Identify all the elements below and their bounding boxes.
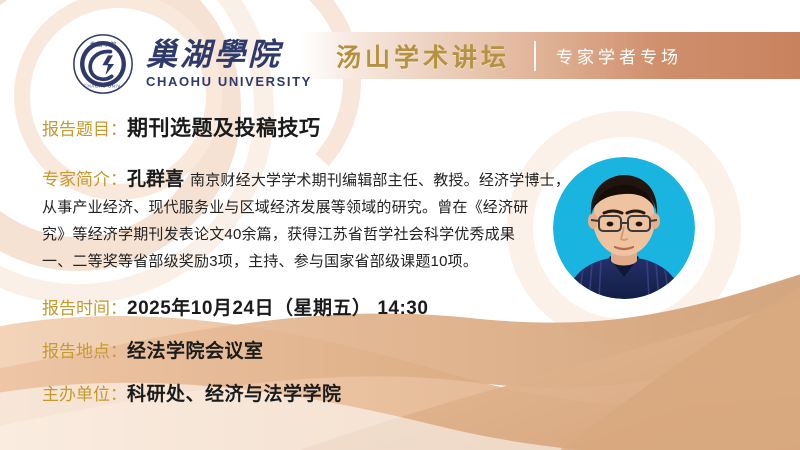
event-banner: 汤山学术讲坛 专家学者专场	[300, 32, 800, 79]
speaker-portrait	[553, 157, 695, 299]
university-name-en: CHAOHU UNIVERSITY	[146, 74, 312, 89]
speaker-bio-label: 专家简介：	[42, 165, 127, 190]
speaker-portrait-image	[553, 157, 695, 299]
svg-text:CHAOHU UNIV.: CHAOHU UNIV.	[84, 84, 123, 89]
report-title-value: 期刊选题及投稿技巧	[127, 112, 321, 142]
organizer-label: 主办单位：	[42, 380, 127, 405]
event-details: 报告时间： 2025年10月24日（星期五） 14:30 报告地点： 经法学院会…	[42, 293, 562, 406]
report-place-row: 报告地点： 经法学院会议室	[42, 336, 562, 363]
report-title-label: 报告题目：	[42, 115, 127, 140]
report-time-row: 报告时间： 2025年10月24日（星期五） 14:30	[42, 293, 562, 320]
poster-content: 报告题目： 期刊选题及投稿技巧 专家简介： 孔群喜 南京财经大学学术期刊编辑部主…	[42, 112, 562, 422]
speaker-bio-block: 专家简介： 孔群喜 南京财经大学学术期刊编辑部主任、教授。经济学博士，主要 从事…	[42, 164, 562, 275]
banner-subtitle: 专家学者专场	[556, 43, 682, 68]
banner-main-title: 汤山学术讲坛	[336, 38, 510, 74]
university-logo: 巢 湖 学 院 CHAOHU UNIV. 巢湖學院 CHAOHU UNIVERS…	[72, 33, 312, 95]
lecture-poster: 汤山学术讲坛 专家学者专场 巢 湖 学 院 CHAOHU UNIV. 巢湖學院 …	[0, 0, 800, 450]
speaker-bio-first-line: 专家简介： 孔群喜 南京财经大学学术期刊编辑部主任、教授。经济学博士，主要	[42, 164, 562, 194]
speaker-bio-line-4: 一、二等奖等省部级奖励3项，主持、参与国家省部级课题10项。	[42, 248, 562, 275]
speaker-bio-line-3: 究》等经济学期刊发表论文40余篇，获得江苏省哲学社会科学优秀成果	[42, 221, 562, 248]
speaker-bio-line-2: 从事产业经济、现代服务业与区域经济发展等领域的研究。曾在《经济研	[42, 194, 562, 221]
speaker-name: 孔群喜	[127, 164, 184, 191]
poster-header: 汤山学术讲坛 专家学者专场 巢 湖 学 院 CHAOHU UNIV. 巢湖學院 …	[0, 0, 800, 108]
organizer-value: 科研处、经济与法学学院	[127, 379, 342, 406]
report-place-label: 报告地点：	[42, 337, 127, 362]
report-time-value: 2025年10月24日（星期五） 14:30	[127, 293, 428, 320]
report-time-label: 报告时间：	[42, 294, 127, 319]
report-place-value: 经法学院会议室	[127, 336, 264, 363]
speaker-bio-line-1: 南京财经大学学术期刊编辑部主任、教授。经济学博士，主要	[190, 167, 600, 194]
report-title-row: 报告题目： 期刊选题及投稿技巧	[42, 112, 562, 142]
university-name-cn: 巢湖學院	[146, 39, 312, 72]
organizer-row: 主办单位： 科研处、经济与法学学院	[42, 379, 562, 406]
banner-divider	[534, 41, 536, 71]
university-seal-icon: 巢 湖 学 院 CHAOHU UNIV.	[72, 33, 134, 95]
